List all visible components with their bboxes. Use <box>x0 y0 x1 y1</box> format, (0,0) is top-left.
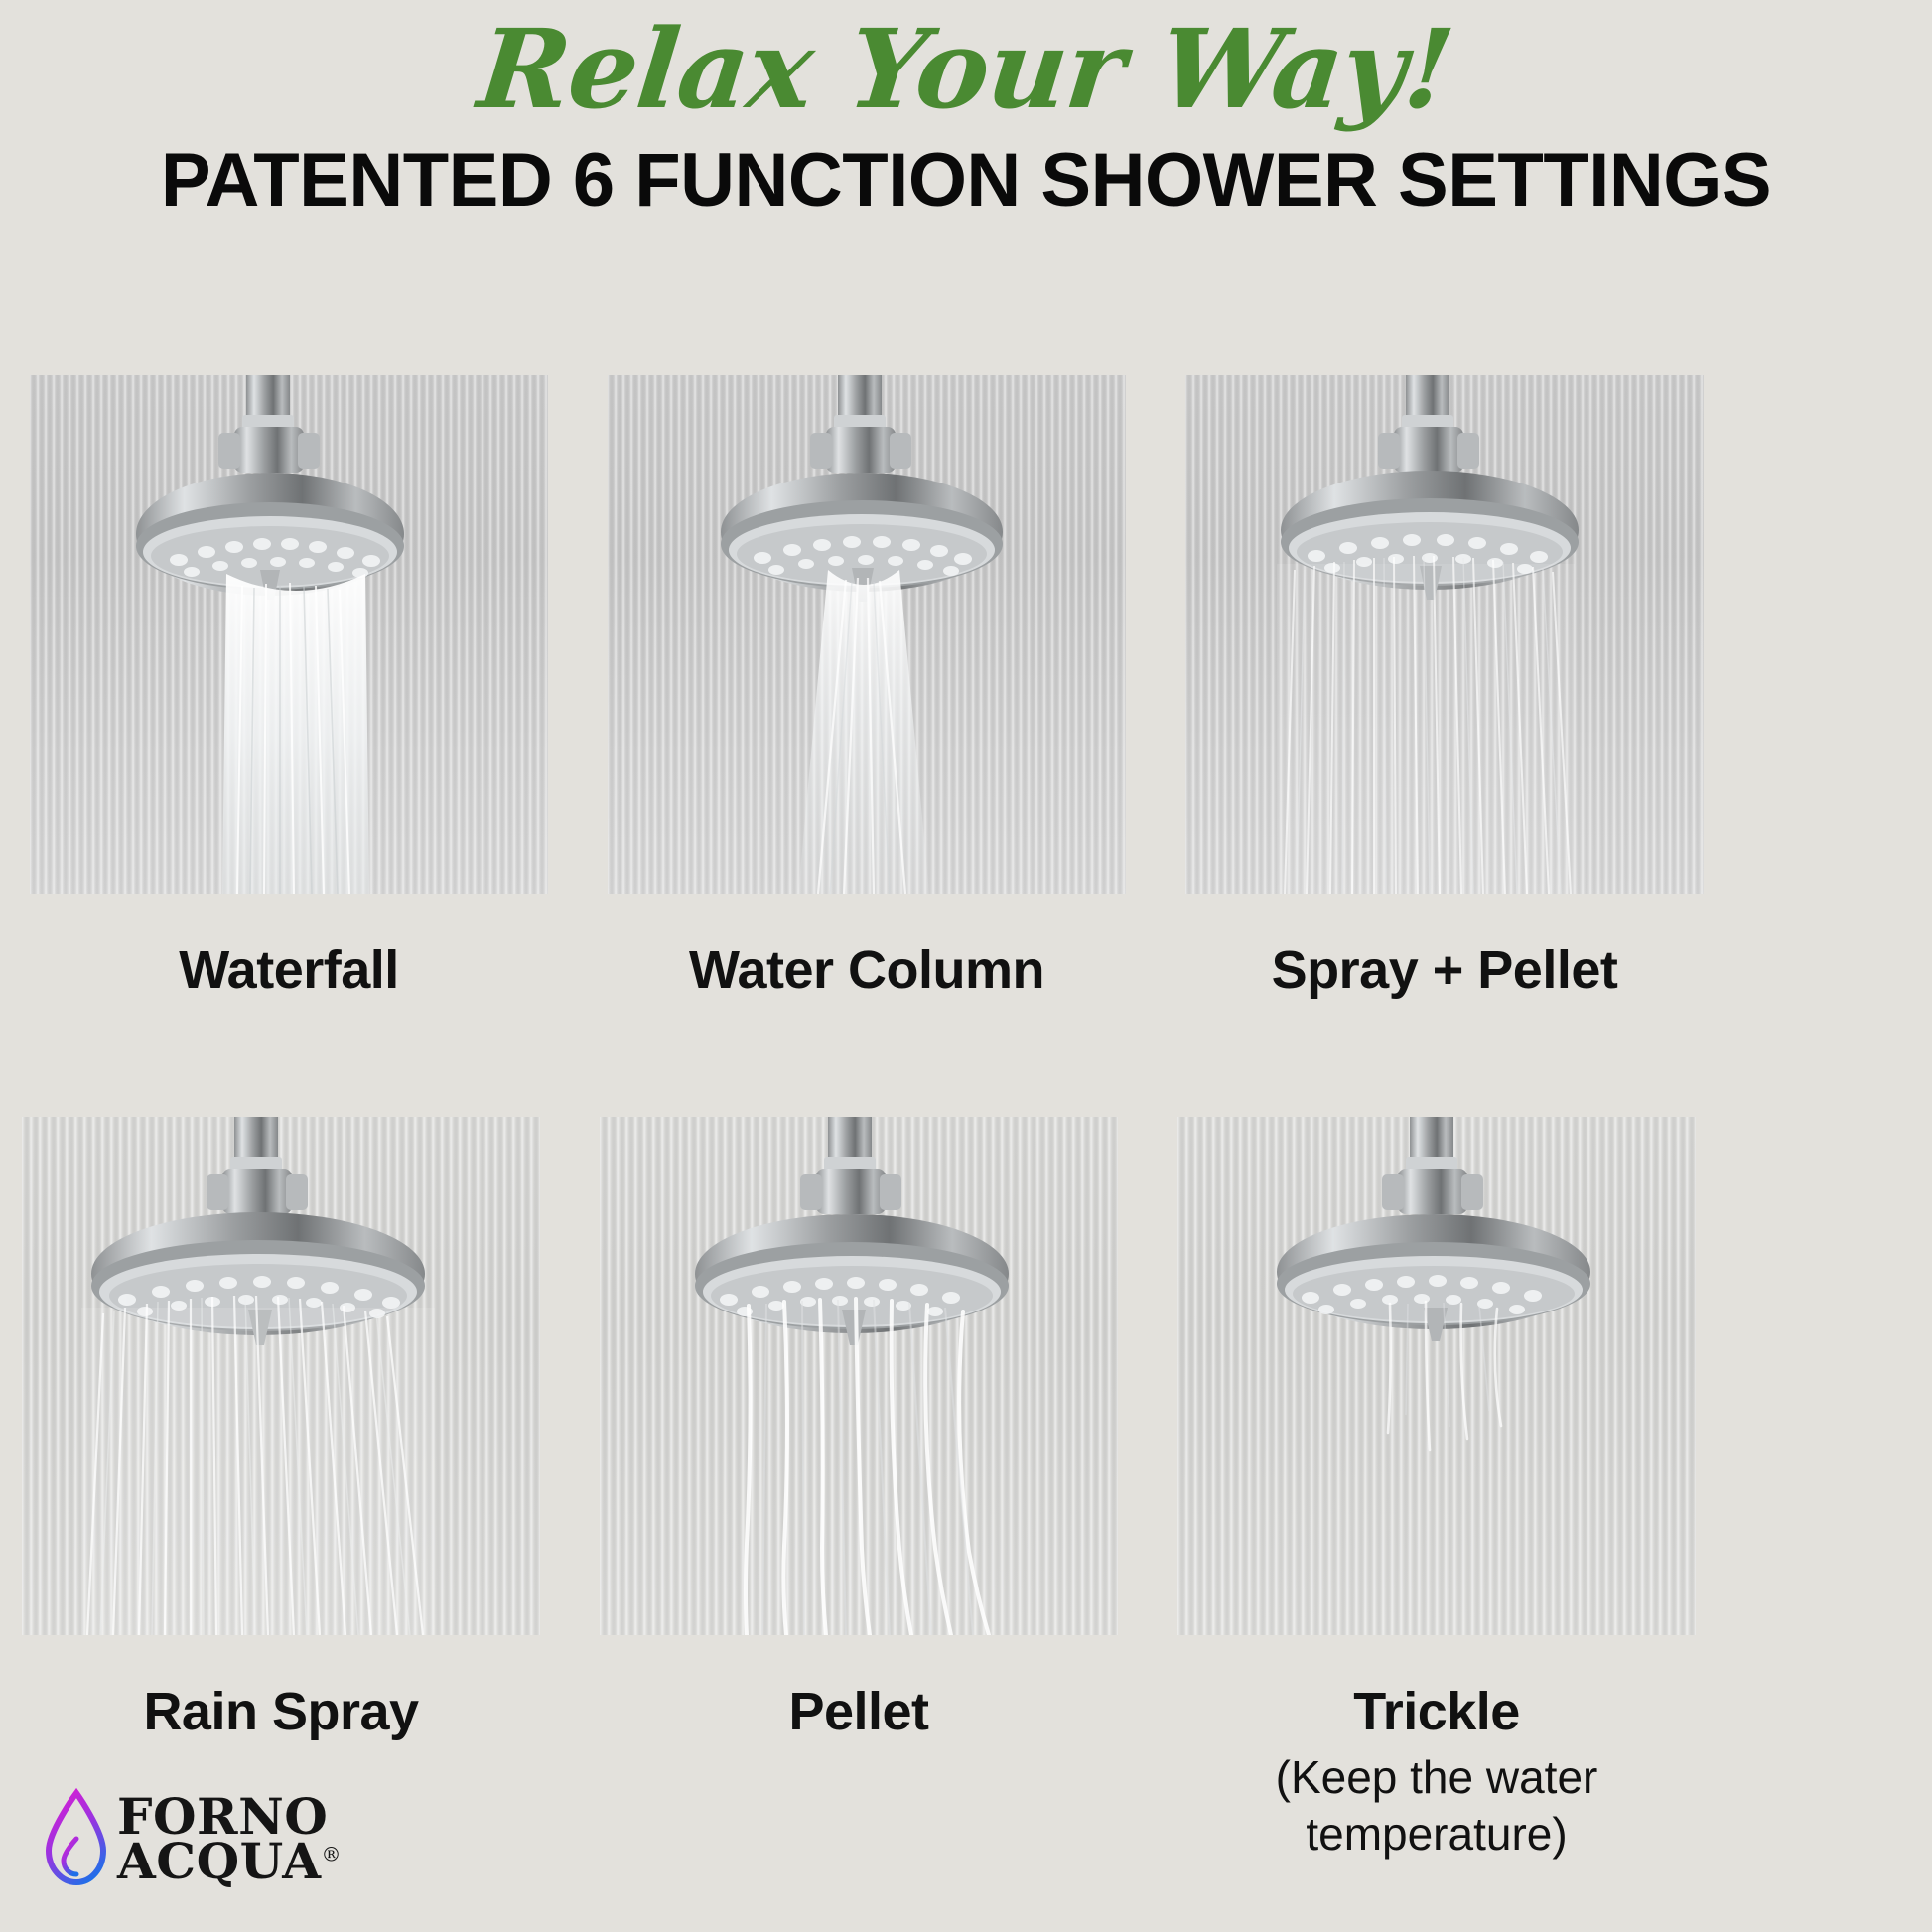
showerhead-spray-pellet-icon <box>1185 375 1704 894</box>
brand-logo[interactable]: FORNO ACQUA® <box>42 1787 342 1890</box>
setting-label: Pellet <box>600 1683 1118 1741</box>
setting-label: Waterfall <box>30 941 548 1000</box>
setting-label: Water Column <box>608 941 1126 1000</box>
setting-label: Rain Spray <box>22 1683 540 1741</box>
showerhead-pellet-icon <box>600 1117 1118 1635</box>
showerhead-waterfall-icon <box>30 375 548 894</box>
showerhead-rain-spray-icon <box>22 1117 540 1635</box>
showerhead-trickle-icon <box>1177 1117 1696 1635</box>
setting-card-rain-spray[interactable]: Rain Spray <box>22 1117 540 1862</box>
settings-grid-row-1: Waterfall <box>30 375 1902 1000</box>
brand-logo-text: FORNO ACQUA® <box>117 1794 342 1883</box>
setting-card-water-column[interactable]: Water Column <box>608 375 1126 1000</box>
setting-card-waterfall[interactable]: Waterfall <box>30 375 548 1000</box>
setting-label: Trickle <box>1177 1683 1696 1741</box>
setting-sublabel: (Keep the water temperature) <box>1177 1749 1696 1861</box>
showerhead-water-column-icon <box>608 375 1126 894</box>
script-title: Relax Your Way! <box>474 14 1457 125</box>
setting-card-trickle[interactable]: Trickle (Keep the water temperature) <box>1177 1117 1696 1862</box>
header-block: Relax Your Way! PATENTED 6 FUNCTION SHOW… <box>0 0 1932 218</box>
settings-grid-row-2: Rain Spray <box>22 1117 1894 1862</box>
page-title: PATENTED 6 FUNCTION SHOWER SETTINGS <box>0 143 1932 218</box>
brand-logo-line2: ACQUA® <box>117 1839 342 1883</box>
water-droplet-icon <box>42 1787 107 1890</box>
registered-trademark-icon: ® <box>322 1842 343 1865</box>
setting-label: Spray + Pellet <box>1185 941 1704 1000</box>
brand-logo-line2-text: ACQUA <box>117 1832 322 1890</box>
setting-card-spray-pellet[interactable]: Spray + Pellet <box>1185 375 1704 1000</box>
setting-card-pellet[interactable]: Pellet <box>600 1117 1118 1862</box>
